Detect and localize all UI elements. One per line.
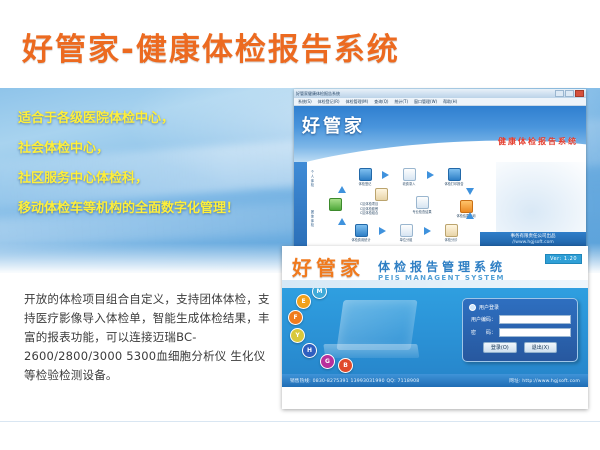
login-panel-header: 用户登录 (469, 304, 571, 311)
bullet-item: 社区服务中心体检科， (18, 164, 308, 194)
window-title: 好管家健康体检报告系统 (296, 91, 553, 97)
bubble-icon: E (296, 294, 311, 309)
workflow-diagram: 个人体检 团体体检 体检登记 收费录入 体检打印报告 体检结果查询 (294, 162, 586, 248)
login-button[interactable]: 登录(O) (483, 342, 517, 353)
notebook-icon (400, 224, 413, 237)
flow-node[interactable]: 体检分诊 (436, 224, 466, 242)
bubble-icon: B (338, 358, 353, 373)
flow-node-label: 体检费用统计 (346, 238, 376, 242)
box-icon (445, 224, 458, 237)
bubble-icon: G (320, 354, 335, 369)
flow-node[interactable]: 专业检查结果 (407, 196, 437, 214)
left-sidebar-strip (294, 162, 307, 248)
flow-side-list-item: C区体检项目 (360, 202, 378, 207)
flow-side-label-group: 团体体检 (310, 210, 315, 228)
login-panel: 用户登录 用户编码： 密 码： 登录(O) 退出(X) (462, 298, 578, 362)
login-panel-title: 用户登录 (479, 304, 499, 311)
flow-arrow-up-icon (338, 218, 346, 225)
menu-item-registration[interactable]: 体检登记(R) (318, 99, 340, 105)
flow-node-label: 体检打印报告 (439, 182, 469, 186)
footer-website[interactable]: 网址: http://www.hgjsoft.com (509, 378, 580, 384)
login-logo: 好管家 (292, 252, 364, 281)
chart-icon (329, 198, 342, 211)
password-row: 密 码： (469, 328, 571, 337)
login-title-cn: 体检报告管理系统 (378, 258, 506, 275)
app-logo: 好管家 (302, 112, 365, 138)
flow-node[interactable] (366, 188, 396, 201)
bubble-icon: F (288, 310, 303, 325)
footer-divider (0, 421, 600, 422)
login-buttons: 登录(O) 退出(X) (469, 342, 571, 353)
bullet-item: 适合于各级医院体检中心， (18, 104, 308, 134)
exit-button[interactable]: 退出(X) (524, 342, 557, 353)
flow-node[interactable]: 收费录入 (394, 168, 424, 186)
menu-item-query[interactable]: 查询(Q) (374, 99, 388, 105)
flow-node-label: 体检登记 (350, 182, 380, 186)
flow-node[interactable]: 体检费用统计 (346, 224, 376, 242)
app-banner: 好管家 健康体检报告系统 (294, 106, 586, 162)
version-badge: Ver: 1.20 (545, 254, 582, 264)
clipboard-icon (416, 196, 429, 209)
flow-arrow-down-icon (466, 188, 474, 195)
flow-node-label: 单位分组 (391, 238, 421, 242)
print-icon (448, 168, 461, 181)
username-label: 用户编码： (469, 316, 496, 323)
bubble-icon: H (302, 343, 317, 358)
globe-blue-icon (355, 224, 368, 237)
flow-node-label: 专业检查结果 (407, 210, 437, 214)
login-body: M E F Y H G B 用户登录 用户编码： 密 码： (282, 288, 588, 374)
minimize-icon[interactable] (555, 90, 564, 97)
flow-arrow-right-icon (424, 227, 431, 235)
login-footer-whitespace (282, 387, 588, 409)
flow-node[interactable]: 单位分组 (391, 224, 421, 242)
page-title: 好管家-健康体检报告系统 (22, 24, 400, 69)
bullet-item: 社会体检中心， (18, 134, 308, 164)
menu-item-window[interactable]: 窗口管理(W) (414, 99, 437, 105)
flow-arrow-up-icon (338, 186, 346, 193)
menu-item-management[interactable]: 体检管理(M) (346, 99, 369, 105)
username-row: 用户编码： (469, 315, 571, 324)
globe-icon (359, 168, 372, 181)
menu-item-system[interactable]: 系统(S) (298, 99, 312, 105)
flow-arrow-right-icon (427, 171, 434, 179)
radio-icon[interactable] (469, 304, 476, 311)
flow-side-list: C区体检项目 C区体检套餐 C区体检组合 (360, 202, 378, 216)
window-titlebar: 好管家健康体检报告系统 (294, 89, 586, 98)
screenshot-app-window: 好管家健康体检报告系统 系统(S) 体检登记(R) 体检管理(M) 查询(Q) … (294, 89, 586, 249)
flow-side-list-item: C区体检组合 (360, 211, 378, 216)
flow-arrow-right-icon (379, 227, 386, 235)
username-input[interactable] (499, 315, 571, 324)
close-icon[interactable] (575, 90, 584, 97)
app-subtitle: 健康体检报告系统 (498, 136, 578, 147)
poster-page: 好管家-健康体检报告系统 适合于各级医院体检中心， 社会体检中心， 社区服务中心… (0, 0, 600, 450)
login-title-en: PEIS MANAGENT SYSTEM (378, 274, 505, 282)
menu-item-help[interactable]: 帮助(H) (443, 99, 457, 105)
flow-arrow-right-icon (382, 171, 389, 179)
edit-icon (403, 168, 416, 181)
maximize-icon[interactable] (565, 90, 574, 97)
description-paragraph: 开放的体检项目组合自定义，支持团体体检，支持医疗影像导入体检单，智能生成体检结果… (24, 290, 276, 385)
screenshot-login-window: 好管家 体检报告管理系统 PEIS MANAGENT SYSTEM Ver: 1… (282, 246, 588, 409)
password-label: 密 码： (469, 329, 496, 336)
title-band: 好管家-健康体检报告系统 (0, 0, 600, 88)
bubble-icon: M (312, 288, 327, 299)
login-header: 好管家 体检报告管理系统 PEIS MANAGENT SYSTEM Ver: 1… (282, 246, 588, 288)
app-menubar: 系统(S) 体检登记(R) 体检管理(M) 查询(Q) 统计(T) 窗口管理(W… (294, 98, 586, 106)
flow-side-label-personal: 个人体检 (310, 170, 315, 188)
login-footer: 销售热线: 0830-8275391 13993031990 QQ: 71189… (282, 374, 588, 387)
laptop-illustration (336, 300, 417, 350)
flow-arrow-up-icon (466, 212, 474, 219)
bullet-item: 移动体检车等机构的全面数字化管理！ (18, 194, 308, 224)
window-controls (555, 90, 584, 97)
flow-node[interactable]: 体检打印报告 (439, 168, 469, 186)
flow-node[interactable]: 体检登记 (350, 168, 380, 186)
flow-node[interactable] (320, 198, 350, 211)
password-input[interactable] (499, 328, 571, 337)
bullet-list: 适合于各级医院体检中心， 社会体检中心， 社区服务中心体检科， 移动体检车等机构… (18, 104, 308, 224)
footer-hotline: 销售热线: 0830-8275391 13993031990 QQ: 71189… (290, 378, 419, 384)
menu-item-statistics[interactable]: 统计(T) (394, 99, 408, 105)
flow-node-label: 收费录入 (394, 182, 424, 186)
bubble-icon: Y (290, 328, 305, 343)
books-icon (375, 188, 388, 201)
flow-node-label: 体检分诊 (436, 238, 466, 242)
